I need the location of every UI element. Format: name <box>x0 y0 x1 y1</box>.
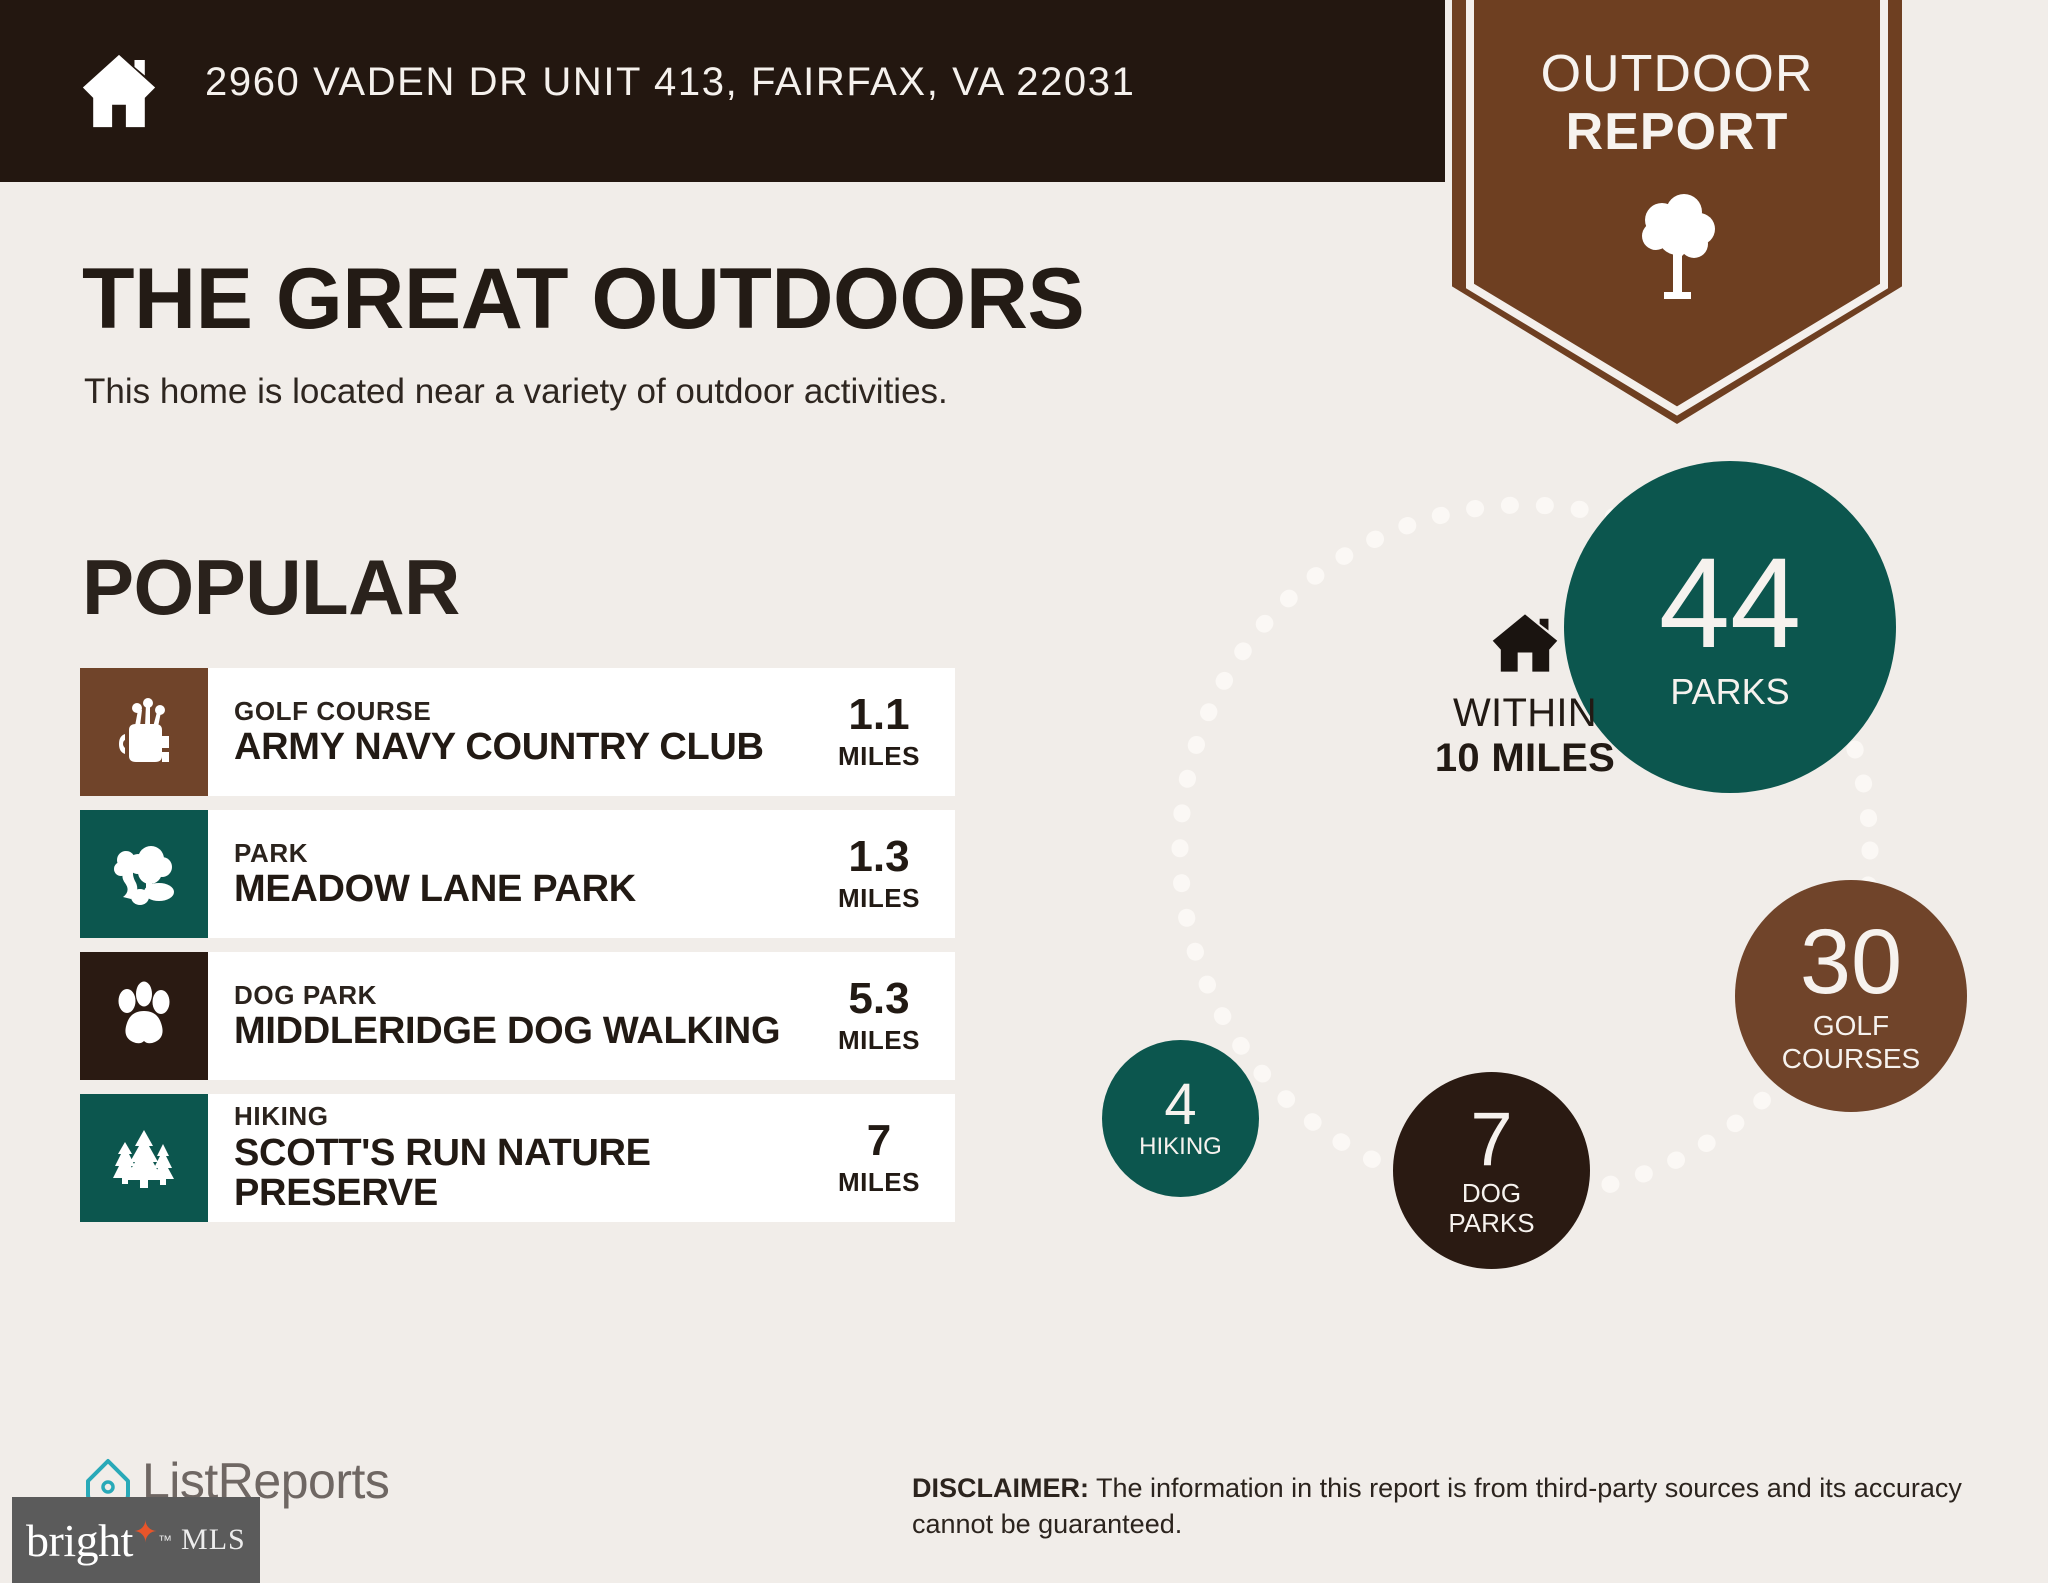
diagram-center-group: WITHIN 10 MILES <box>1325 610 1725 781</box>
within-10-miles-diagram: 44 PARKS 30 GOLF COURSES 7 DOG PARKS 4 H… <box>1075 455 1975 1365</box>
stat-value: 7 <box>1470 1104 1512 1176</box>
list-item-body: PARK MEADOW LANE PARK <box>208 810 819 938</box>
stat-label-line1: DOG <box>1462 1180 1521 1207</box>
distance-unit: MILES <box>838 1167 920 1198</box>
center-distance-label: 10 MILES <box>1325 736 1725 781</box>
page-subtitle: This home is located near a variety of o… <box>84 372 948 412</box>
property-address: 2960 VADEN DR UNIT 413, FAIRFAX, VA 2203… <box>205 60 1405 105</box>
stat-label-line1: GOLF <box>1813 1011 1889 1040</box>
list-item-category: HIKING <box>234 1102 819 1131</box>
badge-title-line2: REPORT <box>1452 102 1902 162</box>
list-item[interactable]: DOG PARK MIDDLERIDGE DOG WALKING 5.3 MIL… <box>80 952 955 1080</box>
distance-value: 5.3 <box>848 977 909 1021</box>
trademark-symbol: ™ <box>158 1532 172 1548</box>
outdoor-report-page: 2960 VADEN DR UNIT 413, FAIRFAX, VA 2203… <box>0 0 2048 1583</box>
golf-bag-icon <box>111 696 177 768</box>
header-bar: 2960 VADEN DR UNIT 413, FAIRFAX, VA 2203… <box>0 0 1445 182</box>
list-item-icon-tile <box>80 1094 208 1222</box>
star-icon: ✦ <box>133 1515 158 1550</box>
list-item-body: DOG PARK MIDDLERIDGE DOG WALKING <box>208 952 819 1080</box>
page-title: THE GREAT OUTDOORS <box>82 250 1084 349</box>
list-item-category: PARK <box>234 839 819 868</box>
list-item[interactable]: HIKING SCOTT'S RUN NATURE PRESERVE 7 MIL… <box>80 1094 955 1222</box>
badge-title-line1: OUTDOOR <box>1452 44 1902 104</box>
distance-unit: MILES <box>838 741 920 772</box>
mls-label: MLS <box>181 1523 246 1557</box>
pine-trees-icon <box>108 1124 180 1192</box>
bright-wordmark: bright <box>26 1514 133 1567</box>
list-item-name: ARMY NAVY COUNTRY CLUB <box>234 727 819 767</box>
list-item-category: DOG PARK <box>234 981 819 1010</box>
popular-heading: POPULAR <box>82 542 460 633</box>
list-item[interactable]: GOLF COURSE ARMY NAVY COUNTRY CLUB 1.1 M… <box>80 668 955 796</box>
outdoor-report-badge: OUTDOOR REPORT <box>1452 0 1902 424</box>
bright-mls-watermark: bright ✦ ™ MLS <box>12 1497 260 1583</box>
list-item-name: SCOTT'S RUN NATURE PRESERVE <box>234 1133 819 1214</box>
distance-value: 7 <box>867 1119 891 1163</box>
list-item-icon-tile <box>80 810 208 938</box>
paw-print-icon <box>111 981 177 1051</box>
stat-circle-golf-courses: 30 GOLF COURSES <box>1735 880 1967 1112</box>
list-item-distance: 1.1 MILES <box>819 668 955 796</box>
disclaimer-label: DISCLAIMER: <box>912 1473 1089 1503</box>
disclaimer: DISCLAIMER: The information in this repo… <box>912 1470 1982 1543</box>
home-icon <box>1488 610 1562 676</box>
list-item-distance: 5.3 MILES <box>819 952 955 1080</box>
stat-label-line2: PARKS <box>1448 1210 1534 1237</box>
list-item-category: GOLF COURSE <box>234 697 819 726</box>
stat-circle-dog-parks: 7 DOG PARKS <box>1393 1072 1590 1269</box>
list-item-body: GOLF COURSE ARMY NAVY COUNTRY CLUB <box>208 668 819 796</box>
list-item-name: MIDDLERIDGE DOG WALKING <box>234 1011 819 1051</box>
list-item-distance: 1.3 MILES <box>819 810 955 938</box>
distance-unit: MILES <box>838 1025 920 1056</box>
stat-label-line2: COURSES <box>1782 1044 1920 1073</box>
list-item[interactable]: PARK MEADOW LANE PARK 1.3 MILES <box>80 810 955 938</box>
distance-unit: MILES <box>838 883 920 914</box>
popular-list: GOLF COURSE ARMY NAVY COUNTRY CLUB 1.1 M… <box>80 668 955 1236</box>
stat-label: HIKING <box>1139 1135 1222 1160</box>
list-item-distance: 7 MILES <box>819 1094 955 1222</box>
list-item-icon-tile <box>80 952 208 1080</box>
stat-circle-hiking: 4 HIKING <box>1102 1040 1259 1197</box>
stat-value: 30 <box>1800 919 1902 1006</box>
distance-value: 1.3 <box>848 835 909 879</box>
tree-icon <box>1632 184 1722 304</box>
center-within-label: WITHIN <box>1325 691 1725 736</box>
distance-value: 1.1 <box>848 693 909 737</box>
home-icon <box>76 48 162 134</box>
stat-value: 4 <box>1164 1077 1196 1132</box>
park-tree-icon <box>109 839 179 909</box>
list-item-icon-tile <box>80 668 208 796</box>
list-item-name: MEADOW LANE PARK <box>234 869 819 909</box>
list-item-body: HIKING SCOTT'S RUN NATURE PRESERVE <box>208 1094 819 1222</box>
